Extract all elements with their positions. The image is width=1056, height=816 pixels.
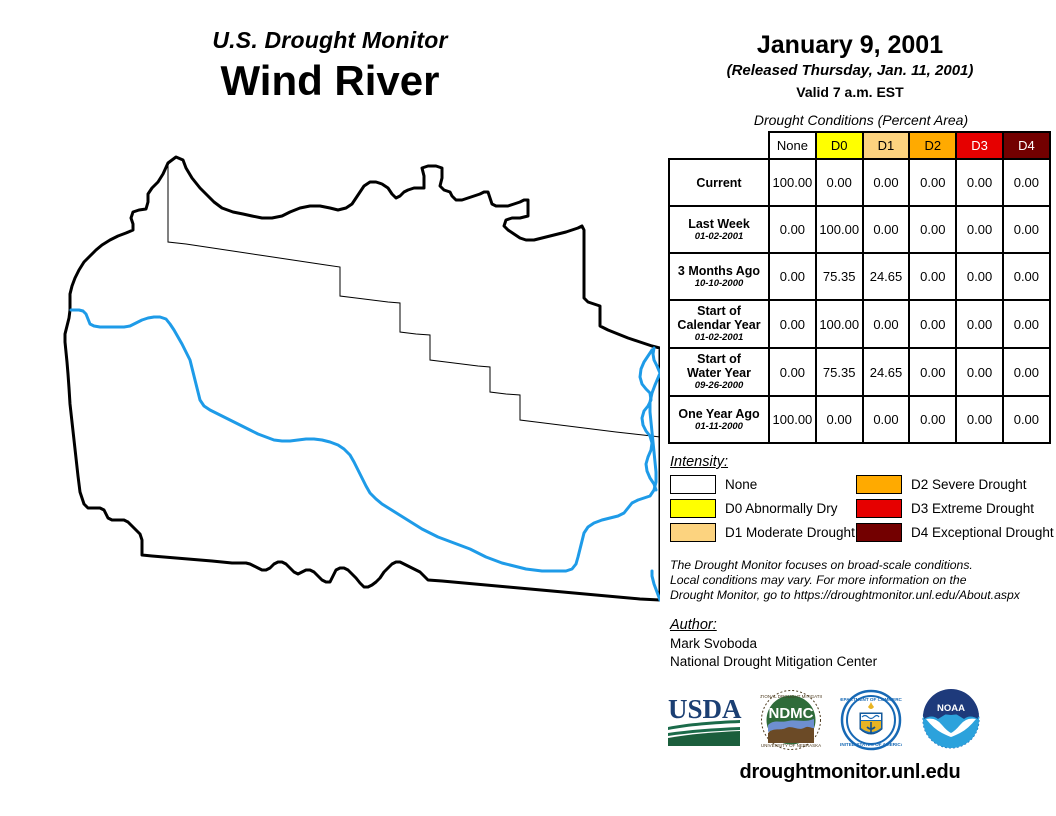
legend-item: None	[670, 475, 856, 494]
row-sublabel: 01-02-2001	[672, 231, 766, 243]
row-label: One Year Ago01-11-2000	[669, 396, 769, 443]
author-organization: National Drought Mitigation Center	[670, 653, 1056, 671]
intensity-legend: Intensity: NoneD2 Severe DroughtD0 Abnor…	[670, 454, 1050, 542]
drought-map[interactable]	[0, 130, 660, 750]
table-row: Last Week01-02-20010.00100.000.000.000.0…	[669, 206, 1050, 253]
disclaimer-line-2: Local conditions may vary. For more info…	[670, 573, 1055, 588]
cell-d4: 0.00	[1003, 396, 1050, 443]
row-label: Start ofWater Year09-26-2000	[669, 348, 769, 396]
cell-d3: 0.00	[956, 300, 1003, 348]
svg-text:NATIONAL DROUGHT MITIGATION: NATIONAL DROUGHT MITIGATION	[760, 694, 822, 699]
cell-d4: 0.00	[1003, 206, 1050, 253]
legend-swatch	[856, 499, 902, 518]
table-header-row: NoneD0D1D2D3D4	[669, 132, 1050, 159]
author-heading: Author:	[670, 617, 1056, 633]
cell-none: 100.00	[769, 159, 816, 206]
table-row: One Year Ago01-11-2000100.000.000.000.00…	[669, 396, 1050, 443]
legend-label: D3 Extreme Drought	[911, 501, 1034, 516]
cell-d1: 0.00	[863, 159, 910, 206]
row-label: Start ofCalendar Year01-02-2001	[669, 300, 769, 348]
cell-none: 0.00	[769, 253, 816, 300]
cell-d2: 0.00	[909, 348, 956, 396]
cell-d0: 100.00	[816, 206, 863, 253]
cell-d1: 0.00	[863, 396, 910, 443]
table-col-header-none: None	[769, 132, 816, 159]
legend-item: D1 Moderate Drought	[670, 523, 856, 542]
cell-none: 0.00	[769, 300, 816, 348]
legend-swatch	[670, 499, 716, 518]
ndmc-logo[interactable]: NDMC NATIONAL DROUGHT MITIGATION UNIVERS…	[760, 689, 822, 751]
table-col-header-d1: D1	[863, 132, 910, 159]
valid-time: Valid 7 a.m. EST	[660, 82, 1040, 102]
row-sublabel: 01-02-2001	[672, 332, 766, 344]
cell-d2: 0.00	[909, 206, 956, 253]
date-block: January 9, 2001 (Released Thursday, Jan.…	[660, 0, 1040, 102]
cell-d3: 0.00	[956, 159, 1003, 206]
svg-text:NOAA: NOAA	[937, 703, 965, 714]
cell-d1: 0.00	[863, 300, 910, 348]
program-title: U.S. Drought Monitor	[0, 26, 660, 54]
cell-d2: 0.00	[909, 159, 956, 206]
cell-d0: 100.00	[816, 300, 863, 348]
release-date: (Released Thursday, Jan. 11, 2001)	[660, 60, 1040, 82]
cell-d1: 24.65	[863, 348, 910, 396]
cell-d1: 0.00	[863, 206, 910, 253]
svg-text:UNITED STATES OF AMERICA: UNITED STATES OF AMERICA	[840, 742, 902, 747]
table-corner-cell	[669, 132, 769, 159]
table-col-header-d2: D2	[909, 132, 956, 159]
usda-logo[interactable]: USDA	[666, 692, 742, 748]
table-row: Current100.000.000.000.000.000.00	[669, 159, 1050, 206]
svg-text:NDMC: NDMC	[769, 705, 814, 722]
cell-d0: 0.00	[816, 159, 863, 206]
cell-d0: 75.35	[816, 348, 863, 396]
table-row: Start ofWater Year09-26-20000.0075.3524.…	[669, 348, 1050, 396]
row-sublabel: 10-10-2000	[672, 278, 766, 290]
cell-d0: 75.35	[816, 253, 863, 300]
reservation-boundary	[65, 157, 660, 600]
cell-d3: 0.00	[956, 253, 1003, 300]
table-caption: Drought Conditions (Percent Area)	[660, 112, 1040, 128]
row-sublabel: 09-26-2000	[672, 380, 766, 392]
report-date: January 9, 2001	[660, 30, 1040, 60]
svg-text:USDA: USDA	[668, 694, 742, 724]
legend-label: D1 Moderate Drought	[725, 525, 855, 540]
cell-d3: 0.00	[956, 348, 1003, 396]
table-col-header-d0: D0	[816, 132, 863, 159]
legend-grid: NoneD2 Severe DroughtD0 Abnormally DryD3…	[670, 475, 1050, 542]
cell-d3: 0.00	[956, 206, 1003, 253]
table-col-header-d3: D3	[956, 132, 1003, 159]
logo-row: USDA NDMC NATIONAL DROUGHT MITIGATION UN…	[666, 689, 1056, 751]
row-label: Current	[669, 159, 769, 206]
cell-d2: 0.00	[909, 300, 956, 348]
legend-label: None	[725, 477, 757, 492]
legend-label: D2 Severe Drought	[911, 477, 1027, 492]
legend-item: D2 Severe Drought	[856, 475, 1050, 494]
cell-d4: 0.00	[1003, 253, 1050, 300]
cell-d0: 0.00	[816, 396, 863, 443]
cell-d2: 0.00	[909, 396, 956, 443]
author-name: Mark Svoboda	[670, 635, 1056, 653]
disclaimer-text: The Drought Monitor focuses on broad-sca…	[670, 558, 1055, 603]
legend-item: D3 Extreme Drought	[856, 499, 1050, 518]
row-sublabel: 01-11-2000	[672, 421, 766, 433]
region-title: Wind River	[0, 56, 660, 106]
disclaimer-line-3: Drought Monitor, go to https://droughtmo…	[670, 588, 1055, 603]
legend-swatch	[856, 523, 902, 542]
right-panel: January 9, 2001 (Released Thursday, Jan.…	[660, 0, 1056, 816]
drought-conditions-table: NoneD0D1D2D3D4 Current100.000.000.000.00…	[668, 131, 1051, 444]
svg-text:DEPARTMENT OF COMMERCE: DEPARTMENT OF COMMERCE	[840, 697, 902, 702]
table-row: Start ofCalendar Year01-02-20010.00100.0…	[669, 300, 1050, 348]
row-label: Last Week01-02-2001	[669, 206, 769, 253]
noaa-logo[interactable]: NOAA	[920, 689, 982, 751]
row-label: 3 Months Ago10-10-2000	[669, 253, 769, 300]
legend-swatch	[670, 523, 716, 542]
cell-none: 0.00	[769, 206, 816, 253]
cell-d4: 0.00	[1003, 348, 1050, 396]
cell-none: 0.00	[769, 348, 816, 396]
cell-d4: 0.00	[1003, 159, 1050, 206]
author-block: Author: Mark Svoboda National Drought Mi…	[670, 617, 1056, 671]
usdoc-logo[interactable]: DEPARTMENT OF COMMERCE UNITED STATES OF …	[840, 689, 902, 751]
table-body: Current100.000.000.000.000.000.00Last We…	[669, 159, 1050, 443]
legend-swatch	[670, 475, 716, 494]
table-col-header-d4: D4	[1003, 132, 1050, 159]
intensity-heading: Intensity:	[670, 454, 1050, 470]
cell-d2: 0.00	[909, 253, 956, 300]
svg-text:UNIVERSITY OF NEBRASKA: UNIVERSITY OF NEBRASKA	[761, 743, 821, 748]
cell-none: 100.00	[769, 396, 816, 443]
legend-item: D4 Exceptional Drought	[856, 523, 1050, 542]
cell-d1: 24.65	[863, 253, 910, 300]
title-block: U.S. Drought Monitor Wind River	[0, 26, 660, 106]
disclaimer-line-1: The Drought Monitor focuses on broad-sca…	[670, 558, 1055, 573]
legend-swatch	[856, 475, 902, 494]
site-url[interactable]: droughtmonitor.unl.edu	[660, 761, 1040, 784]
legend-item: D0 Abnormally Dry	[670, 499, 856, 518]
cell-d3: 0.00	[956, 396, 1003, 443]
cell-d4: 0.00	[1003, 300, 1050, 348]
legend-label: D0 Abnormally Dry	[725, 501, 838, 516]
map-svg	[0, 130, 660, 750]
table-row: 3 Months Ago10-10-20000.0075.3524.650.00…	[669, 253, 1050, 300]
legend-label: D4 Exceptional Drought	[911, 525, 1054, 540]
